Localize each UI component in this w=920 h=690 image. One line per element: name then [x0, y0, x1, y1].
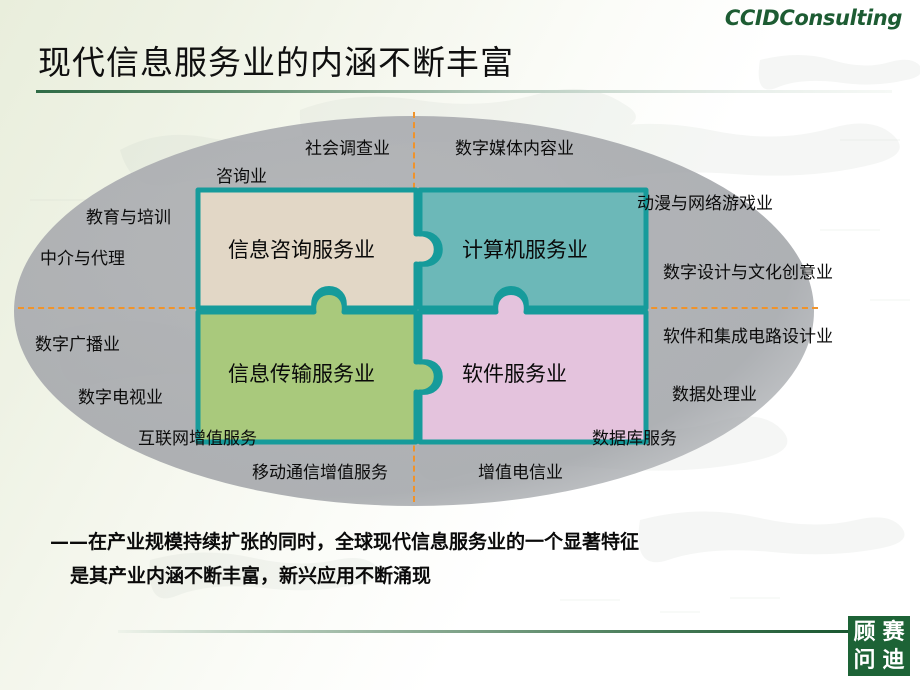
title-underline-rule [36, 90, 892, 93]
diagram-stage: 信息咨询服务业 计算机服务业 信息传输服务业 软件服务业 社会调查业 数字媒体内… [0, 108, 920, 508]
puzzle-label-computer-service: 计算机服务业 [462, 234, 588, 264]
ccid-consulting-logo: CCIDConsulting [725, 6, 902, 30]
footer-note-line2: 是其产业内涵不断丰富，新兴应用不断涌现 [70, 559, 880, 593]
logo-text-ccid: CCID [725, 6, 779, 30]
label-animation-online-game: 动漫与网络游戏业 [637, 189, 773, 214]
puzzle-label-info-consulting: 信息咨询服务业 [228, 234, 375, 264]
label-digital-media: 数字媒体内容业 [455, 134, 574, 159]
logo-char-gu: 顾 [850, 618, 879, 646]
label-agency-brokerage: 中介与代理 [40, 244, 125, 269]
page-title: 现代信息服务业的内涵不断丰富 [38, 36, 514, 84]
saidi-consulting-logo: 顾 赛 问 迪 [848, 616, 910, 676]
label-consulting: 咨询业 [216, 162, 267, 187]
label-database-service: 数据库服务 [592, 424, 677, 449]
slide-canvas: CCIDConsulting 现代信息服务业的内涵不断丰富 信息咨询服务业 计算… [0, 0, 920, 690]
label-digital-tv: 数字电视业 [78, 383, 163, 408]
footer-rule [118, 630, 874, 633]
logo-char-sai: 赛 [879, 618, 908, 646]
label-digital-design: 数字设计与文化创意业 [663, 258, 833, 283]
logo-text-consulting: Consulting [779, 6, 902, 30]
label-mobile-vas: 移动通信增值服务 [252, 458, 388, 483]
label-social-survey: 社会调查业 [305, 134, 390, 159]
footer-note: ——在产业规模持续扩张的同时，全球现代信息服务业的一个显著特征 是其产业内涵不断… [50, 525, 880, 593]
puzzle-label-software-service: 软件服务业 [462, 358, 567, 388]
label-value-added-telecom: 增值电信业 [478, 458, 563, 483]
logo-char-di: 迪 [879, 646, 908, 674]
label-digital-broadcast: 数字广播业 [35, 330, 120, 355]
footer-note-line1: ——在产业规模持续扩张的同时，全球现代信息服务业的一个显著特征 [50, 531, 639, 553]
label-internet-vas: 互联网增值服务 [138, 424, 257, 449]
label-software-ic-design: 软件和集成电路设计业 [663, 322, 833, 347]
puzzle-label-info-transmission: 信息传输服务业 [228, 358, 375, 388]
label-data-processing: 数据处理业 [672, 380, 757, 405]
logo-char-wen: 问 [850, 646, 879, 674]
label-education-training: 教育与培训 [86, 203, 171, 228]
puzzle-diagram: 信息咨询服务业 计算机服务业 信息传输服务业 软件服务业 [194, 186, 650, 446]
